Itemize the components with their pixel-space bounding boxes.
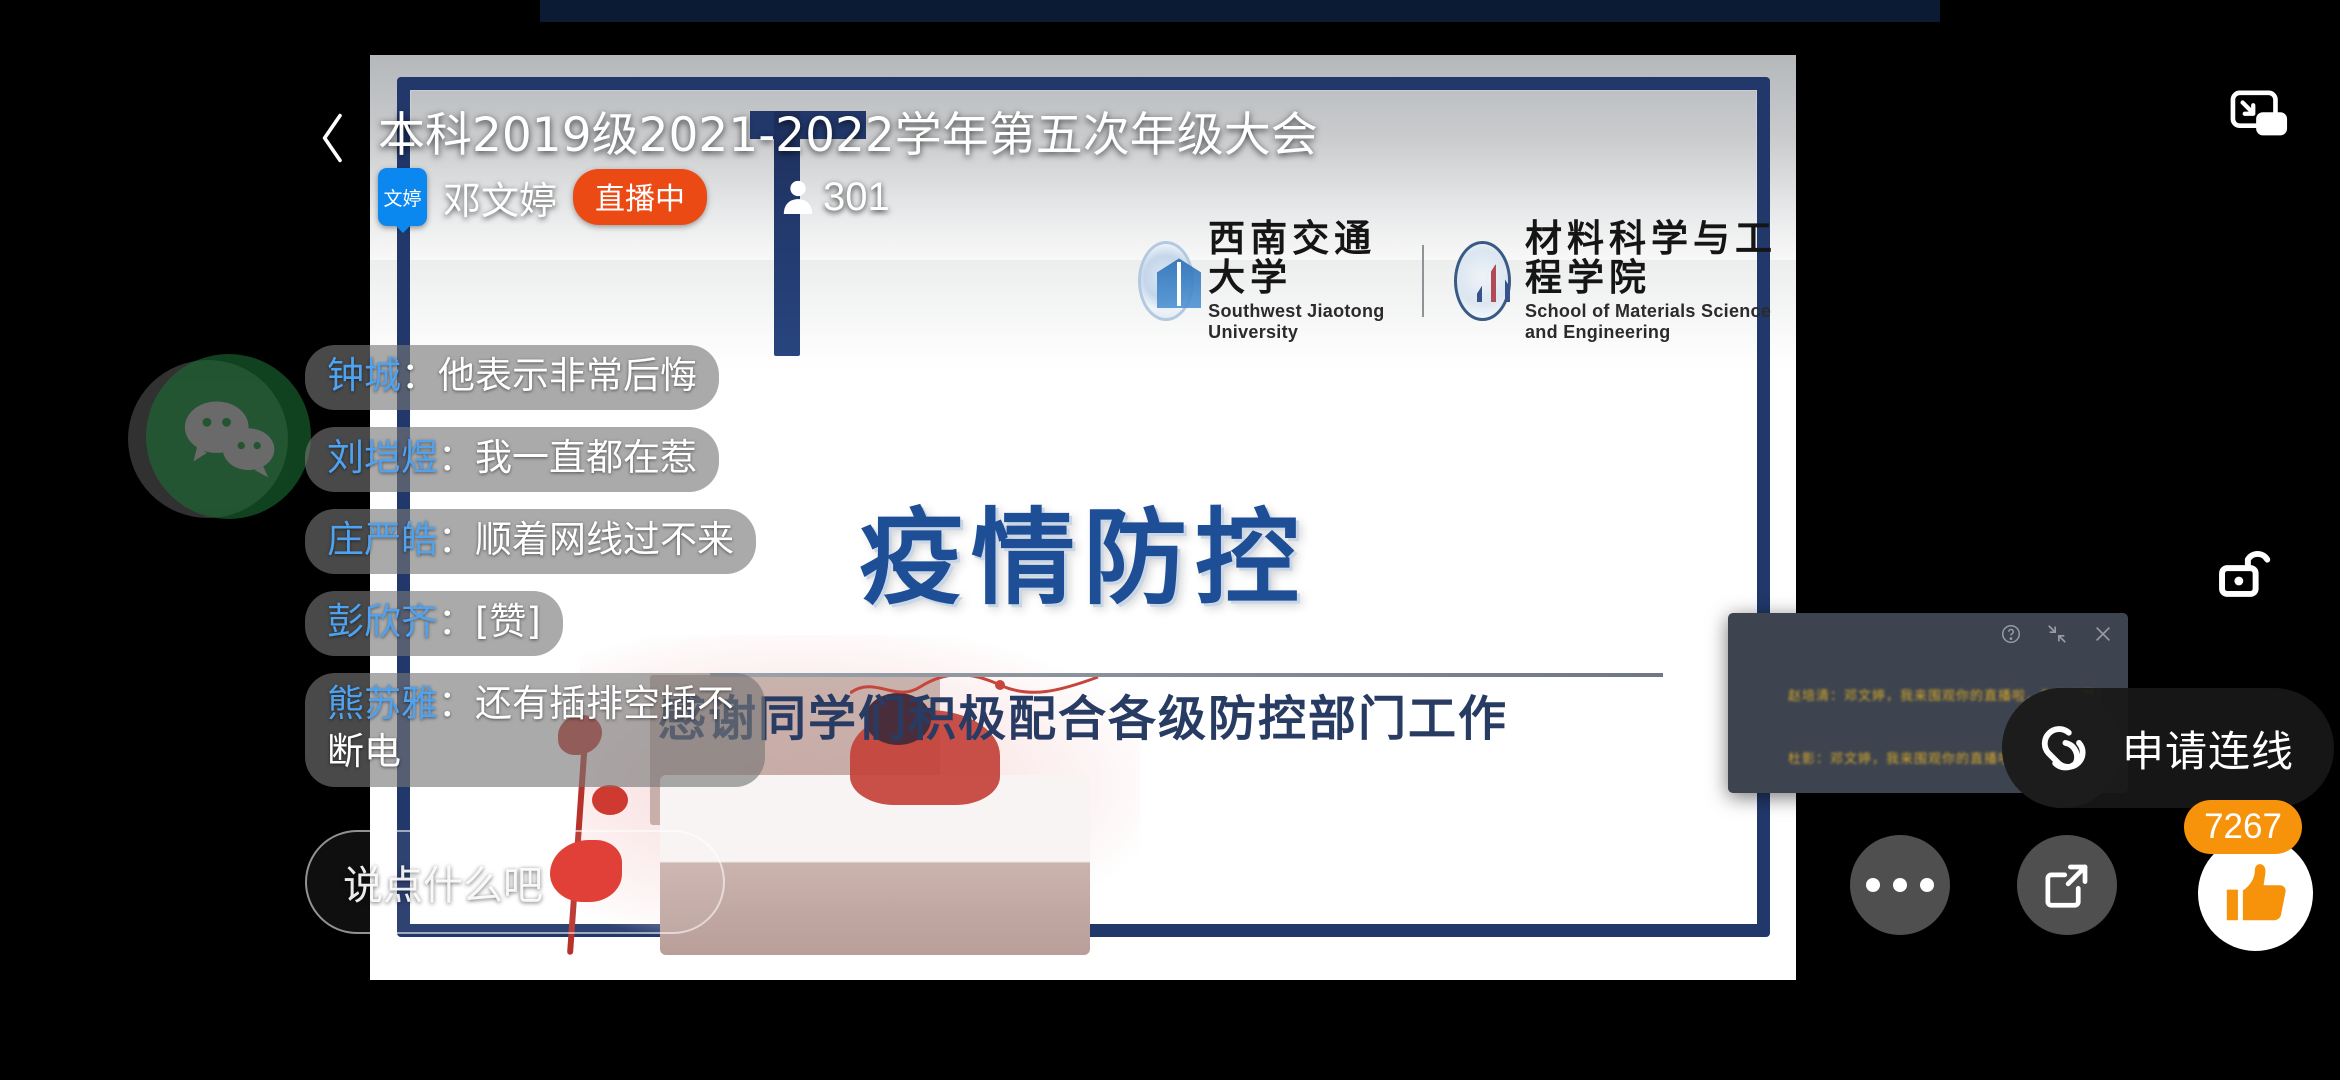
logo-mse: 材料科学与工程学院 School of Materials Science an…	[1454, 220, 1796, 343]
chat-separator: ：	[438, 600, 475, 643]
request-connect-label: 申请连线	[2122, 718, 2294, 779]
chat-message: 刘垲煜：我一直都在惹	[305, 427, 719, 492]
help-circle-icon[interactable]	[2000, 623, 2022, 645]
floating-panel-controls[interactable]	[2000, 623, 2114, 645]
unlock-button[interactable]	[2190, 518, 2298, 626]
connect-icon-wrap[interactable]	[2002, 688, 2122, 808]
link-chain-icon[interactable]	[2028, 714, 2096, 782]
mse-name-en: School of Materials Science and Engineer…	[1525, 301, 1796, 343]
chat-message: 熊苏雅：还有插排空插不断电	[305, 673, 765, 786]
chat-message: 彭欣齐：[赞]	[305, 591, 563, 656]
share-button[interactable]	[2017, 835, 2117, 935]
chat-input[interactable]: 说点什么吧	[305, 830, 725, 934]
chat-text: [赞]	[475, 600, 541, 643]
chat-input-placeholder: 说点什么吧	[343, 853, 543, 911]
back-button[interactable]	[300, 105, 366, 171]
host-avatar-badge[interactable]: 文婷	[378, 168, 427, 226]
request-connect-button[interactable]: 申请连线	[2002, 688, 2334, 808]
viewer-count: 301	[823, 175, 890, 220]
wechat-circle[interactable]	[146, 354, 311, 519]
host-info-row: 文婷 邓文婷 直播中 301	[378, 168, 890, 226]
chat-text: 顺着网线过不来	[475, 518, 734, 561]
chat-message: 庄严皓：顺着网线过不来	[305, 509, 756, 574]
person-icon	[781, 178, 815, 216]
letterbox-bottom	[0, 980, 2340, 1080]
chat-separator: ：	[401, 354, 438, 397]
restore-window-icon[interactable]	[2046, 623, 2068, 645]
viewer-count-group: 301	[781, 175, 890, 220]
logo-divider	[1422, 245, 1424, 317]
close-icon[interactable]	[2092, 623, 2114, 645]
chat-user: 熊苏雅	[327, 682, 438, 725]
picture-in-picture-icon[interactable]	[2229, 89, 2291, 147]
chat-message: 钟城：他表示非常后悔	[305, 345, 719, 410]
chat-separator: ：	[438, 682, 475, 725]
like-count: 7267	[2184, 800, 2302, 854]
page-title: 本科2019级2021-2022学年第五次年级大会	[378, 96, 1318, 165]
chat-text: 我一直都在惹	[475, 436, 697, 479]
chat-text: 他表示非常后悔	[438, 354, 697, 397]
chat-separator: ：	[438, 518, 475, 561]
wechat-share-button[interactable]	[128, 350, 314, 520]
mse-name-cn: 材料科学与工程学院	[1525, 220, 1796, 298]
status-strip	[540, 0, 1940, 22]
more-dots-icon[interactable]	[1866, 878, 1934, 892]
sjtu-name-en: Southwest Jiaotong University	[1208, 301, 1392, 343]
sjtu-seal-icon	[1138, 241, 1194, 321]
chat-message-list[interactable]: 钟城：他表示非常后悔 刘垲煜：我一直都在惹 庄严皓：顺着网线过不来 彭欣齐：[赞…	[305, 345, 865, 787]
chat-user: 彭欣齐	[327, 600, 438, 643]
slide-logos: 西南交通大学 Southwest Jiaotong University 材料科…	[1138, 220, 1796, 343]
host-name: 邓文婷	[443, 170, 557, 225]
chat-separator: ：	[438, 436, 475, 479]
unlock-icon[interactable]	[2213, 541, 2275, 603]
logo-sjtu: 西南交通大学 Southwest Jiaotong University	[1138, 220, 1392, 343]
share-external-icon[interactable]	[2040, 858, 2094, 912]
live-stream-screen: 西南交通大学 Southwest Jiaotong University 材料科…	[0, 0, 2340, 1080]
chat-user: 庄严皓	[327, 518, 438, 561]
chat-user: 钟城	[327, 354, 401, 397]
more-options-button[interactable]	[1850, 835, 1950, 935]
live-status-badge: 直播中	[573, 169, 707, 225]
chat-user: 刘垲煜	[327, 436, 438, 479]
picture-in-picture-button[interactable]	[2222, 82, 2298, 154]
thumbs-up-icon[interactable]	[2221, 859, 2291, 929]
mse-seal-icon	[1454, 241, 1511, 321]
chevron-left-icon[interactable]	[315, 110, 351, 166]
wechat-icon[interactable]	[180, 394, 278, 480]
sjtu-name-cn: 西南交通大学	[1208, 220, 1392, 298]
